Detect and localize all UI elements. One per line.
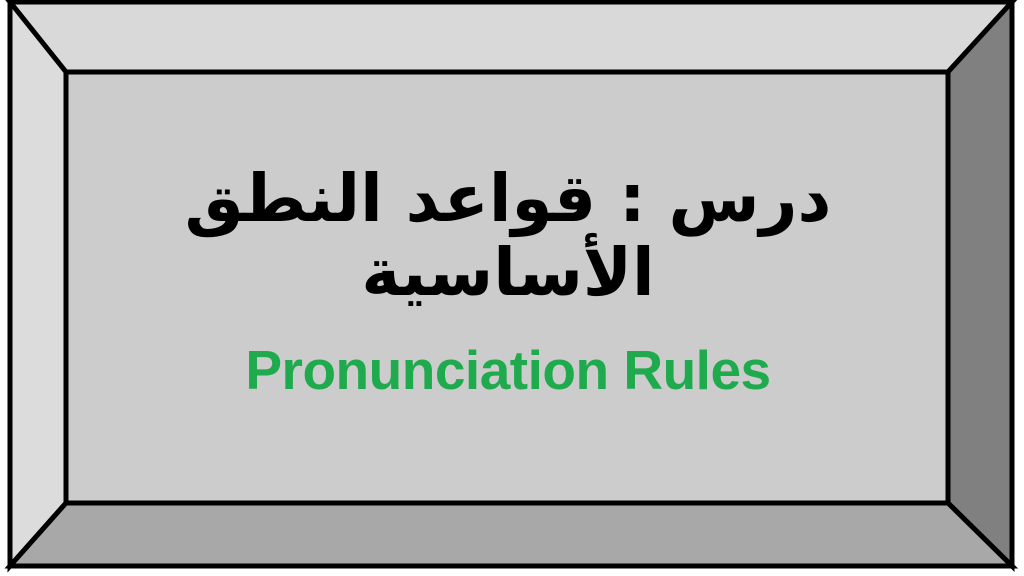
arabic-title-line-2: الأساسية (361, 237, 654, 308)
frame-face-right (948, 2, 1012, 566)
frame-face-bottom (10, 503, 1012, 566)
frame-face-left (10, 2, 66, 566)
slide-canvas: درس : قواعد النطق الأساسية Pronunciation… (0, 0, 1024, 576)
arabic-title-line-1: درس : قواعد النطق (185, 163, 832, 234)
frame-face-top (10, 2, 1012, 72)
english-subtitle: Pronunciation Rules (245, 342, 770, 400)
slide-text-block: درس : قواعد النطق الأساسية Pronunciation… (68, 74, 948, 503)
